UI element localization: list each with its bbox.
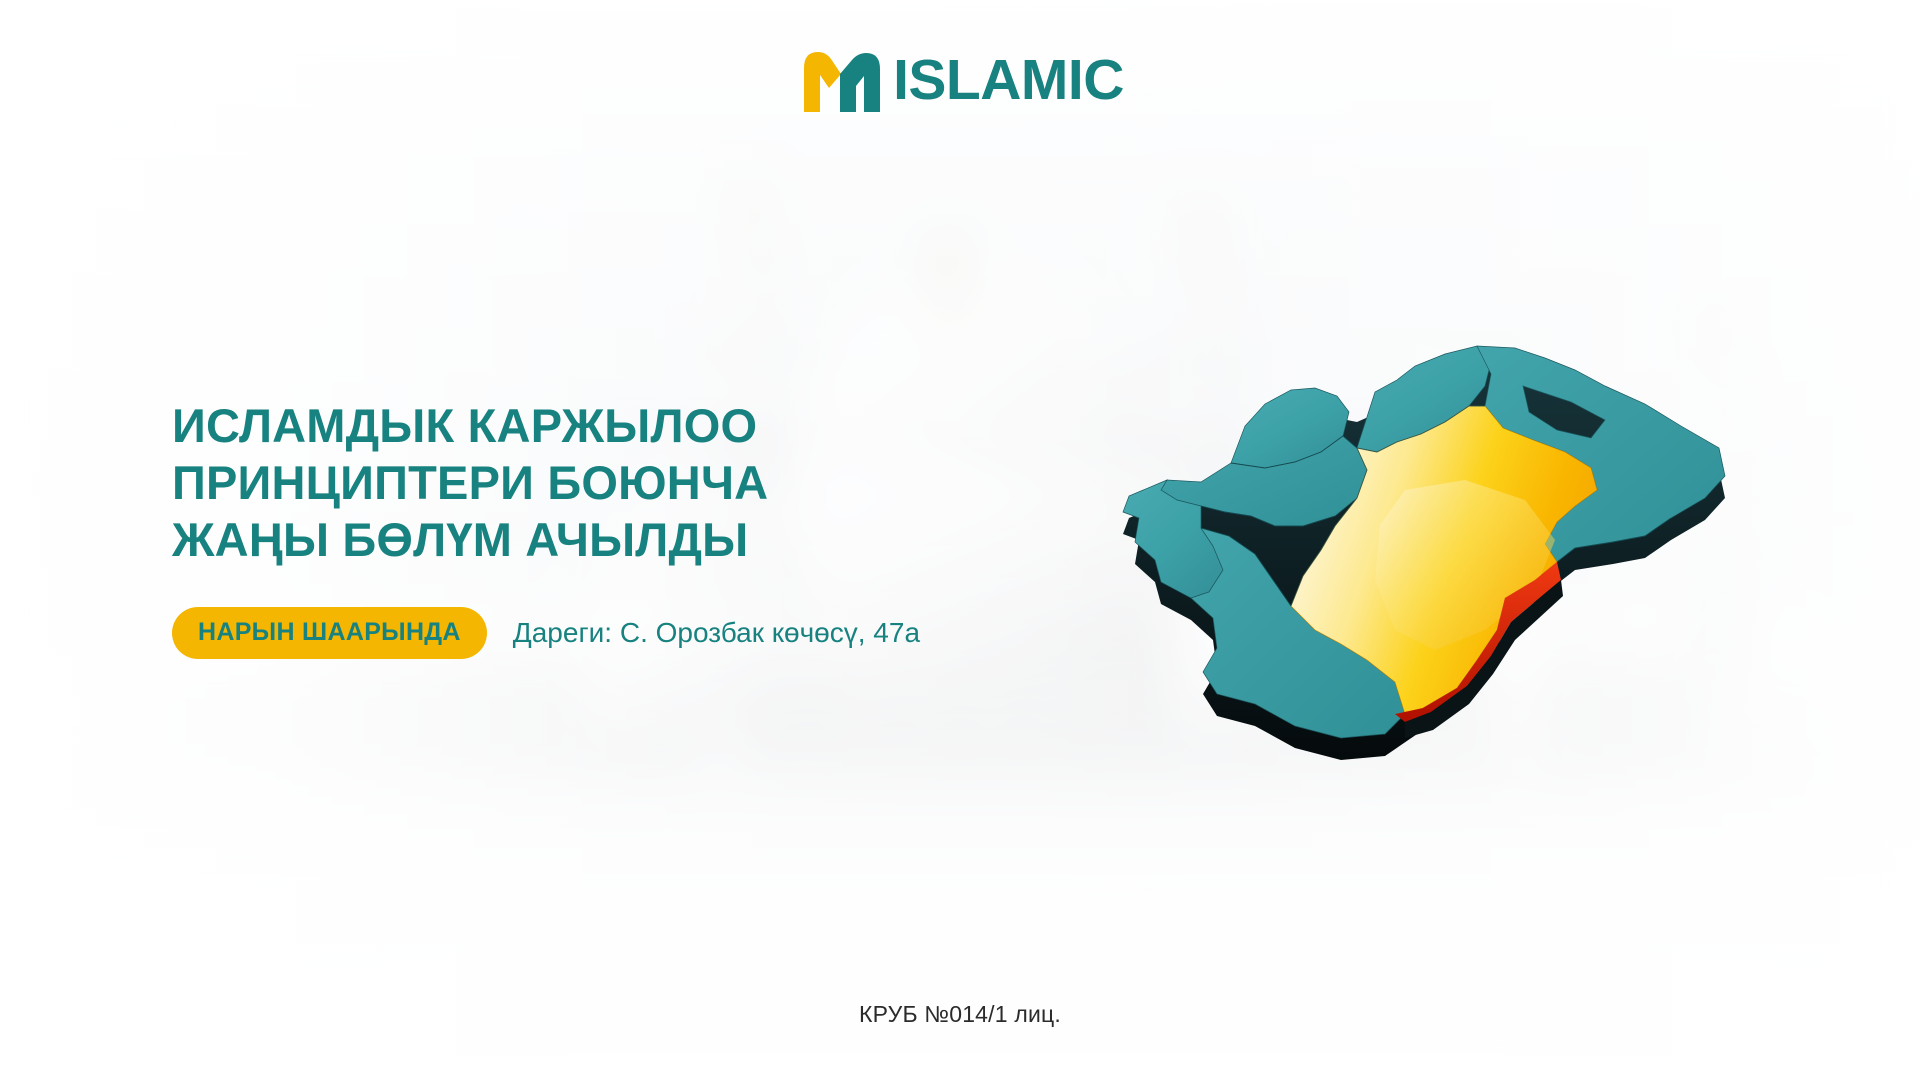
headline-line-2: ПРИНЦИПТЕРИ БОЮНЧА — [172, 455, 1012, 512]
headline-line-3: ЖАҢЫ БӨЛҮМ АЧЫЛДЫ — [172, 512, 1012, 569]
logo-wordmark: ISLAMIC — [893, 52, 1124, 109]
footer: КРУБ №014/1 лиц. — [0, 1001, 1920, 1028]
license-text: КРУБ №014/1 лиц. — [859, 1001, 1061, 1027]
crescent-m-icon — [796, 44, 892, 116]
city-badge: НАРЫН ШААРЫНДА — [172, 607, 487, 659]
page-title: ИСЛАМДЫК КАРЖЫЛОО ПРИНЦИПТЕРИ БОЮНЧА ЖАҢ… — [172, 398, 1012, 569]
address-text: Дареги: С. Орозбак көчөсү, 47a — [513, 617, 920, 649]
headline-block: ИСЛАМДЫК КАРЖЫЛОО ПРИНЦИПТЕРИ БОЮНЧА ЖАҢ… — [172, 398, 1012, 659]
kyrgyzstan-map-illustration — [1105, 330, 1745, 760]
location-row: НАРЫН ШААРЫНДА Дареги: С. Орозбак көчөсү… — [172, 607, 1012, 659]
promo-banner: ISLAMIC ИСЛАМДЫК КАРЖЫЛОО ПРИНЦИПТЕРИ БО… — [0, 0, 1920, 1080]
headline-line-1: ИСЛАМДЫК КАРЖЫЛОО — [172, 398, 1012, 455]
brand-logo: ISLAMIC — [0, 40, 1920, 120]
